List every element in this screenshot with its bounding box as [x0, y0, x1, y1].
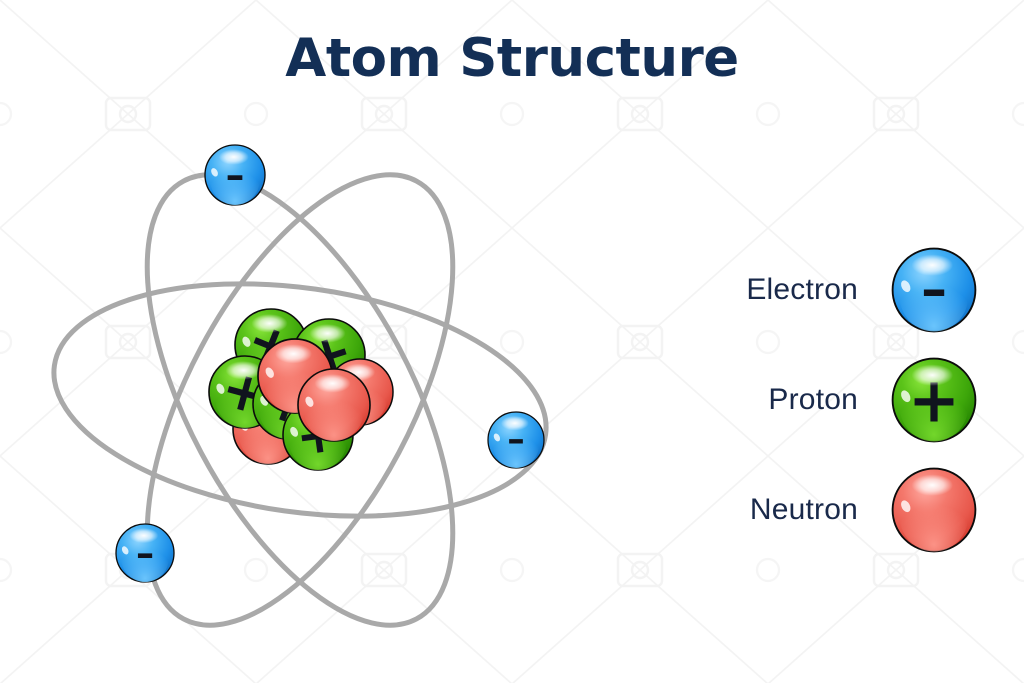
electron-right: –: [488, 412, 544, 468]
atom-structure-illustration: Atom Structure: [0, 0, 1024, 683]
legend-item-proton: Proton+: [690, 350, 980, 450]
electron-bottom-left: –: [116, 524, 174, 582]
sphere-highlight: [129, 528, 158, 543]
sphere-highlight: [315, 374, 351, 393]
sphere-highlight: [219, 149, 249, 165]
legend-label-proton: Proton: [768, 383, 858, 417]
particle-legend: Electron–Proton+Neutron: [690, 240, 990, 580]
atom-diagram: +++++ –––: [30, 100, 600, 670]
sphere-highlight: [912, 364, 953, 386]
sphere-highlight: [226, 361, 262, 380]
neutron-legend-sphere: [893, 469, 976, 552]
sphere-highlight: [912, 254, 953, 276]
sphere-highlight: [275, 344, 312, 363]
legend-label-neutron: Neutron: [750, 493, 858, 527]
sphere-highlight: [912, 474, 953, 496]
legend-sphere-electron: –: [888, 244, 980, 336]
electron-legend-sphere: –: [893, 249, 976, 332]
neutron-particle: [298, 369, 370, 441]
sphere-highlight: [501, 416, 529, 431]
nucleus-cluster: +++++: [209, 307, 393, 470]
page-title: Atom Structure: [0, 28, 1024, 89]
legend-sphere-neutron: [888, 464, 980, 556]
proton-legend-sphere: +: [893, 359, 976, 442]
legend-item-neutron: Neutron: [690, 460, 980, 560]
electron-top: –: [205, 145, 265, 205]
sphere-highlight: [310, 324, 346, 343]
legend-label-electron: Electron: [746, 273, 858, 307]
sphere-highlight: [252, 314, 288, 333]
legend-sphere-proton: +: [888, 354, 980, 446]
legend-item-electron: Electron–: [690, 240, 980, 340]
